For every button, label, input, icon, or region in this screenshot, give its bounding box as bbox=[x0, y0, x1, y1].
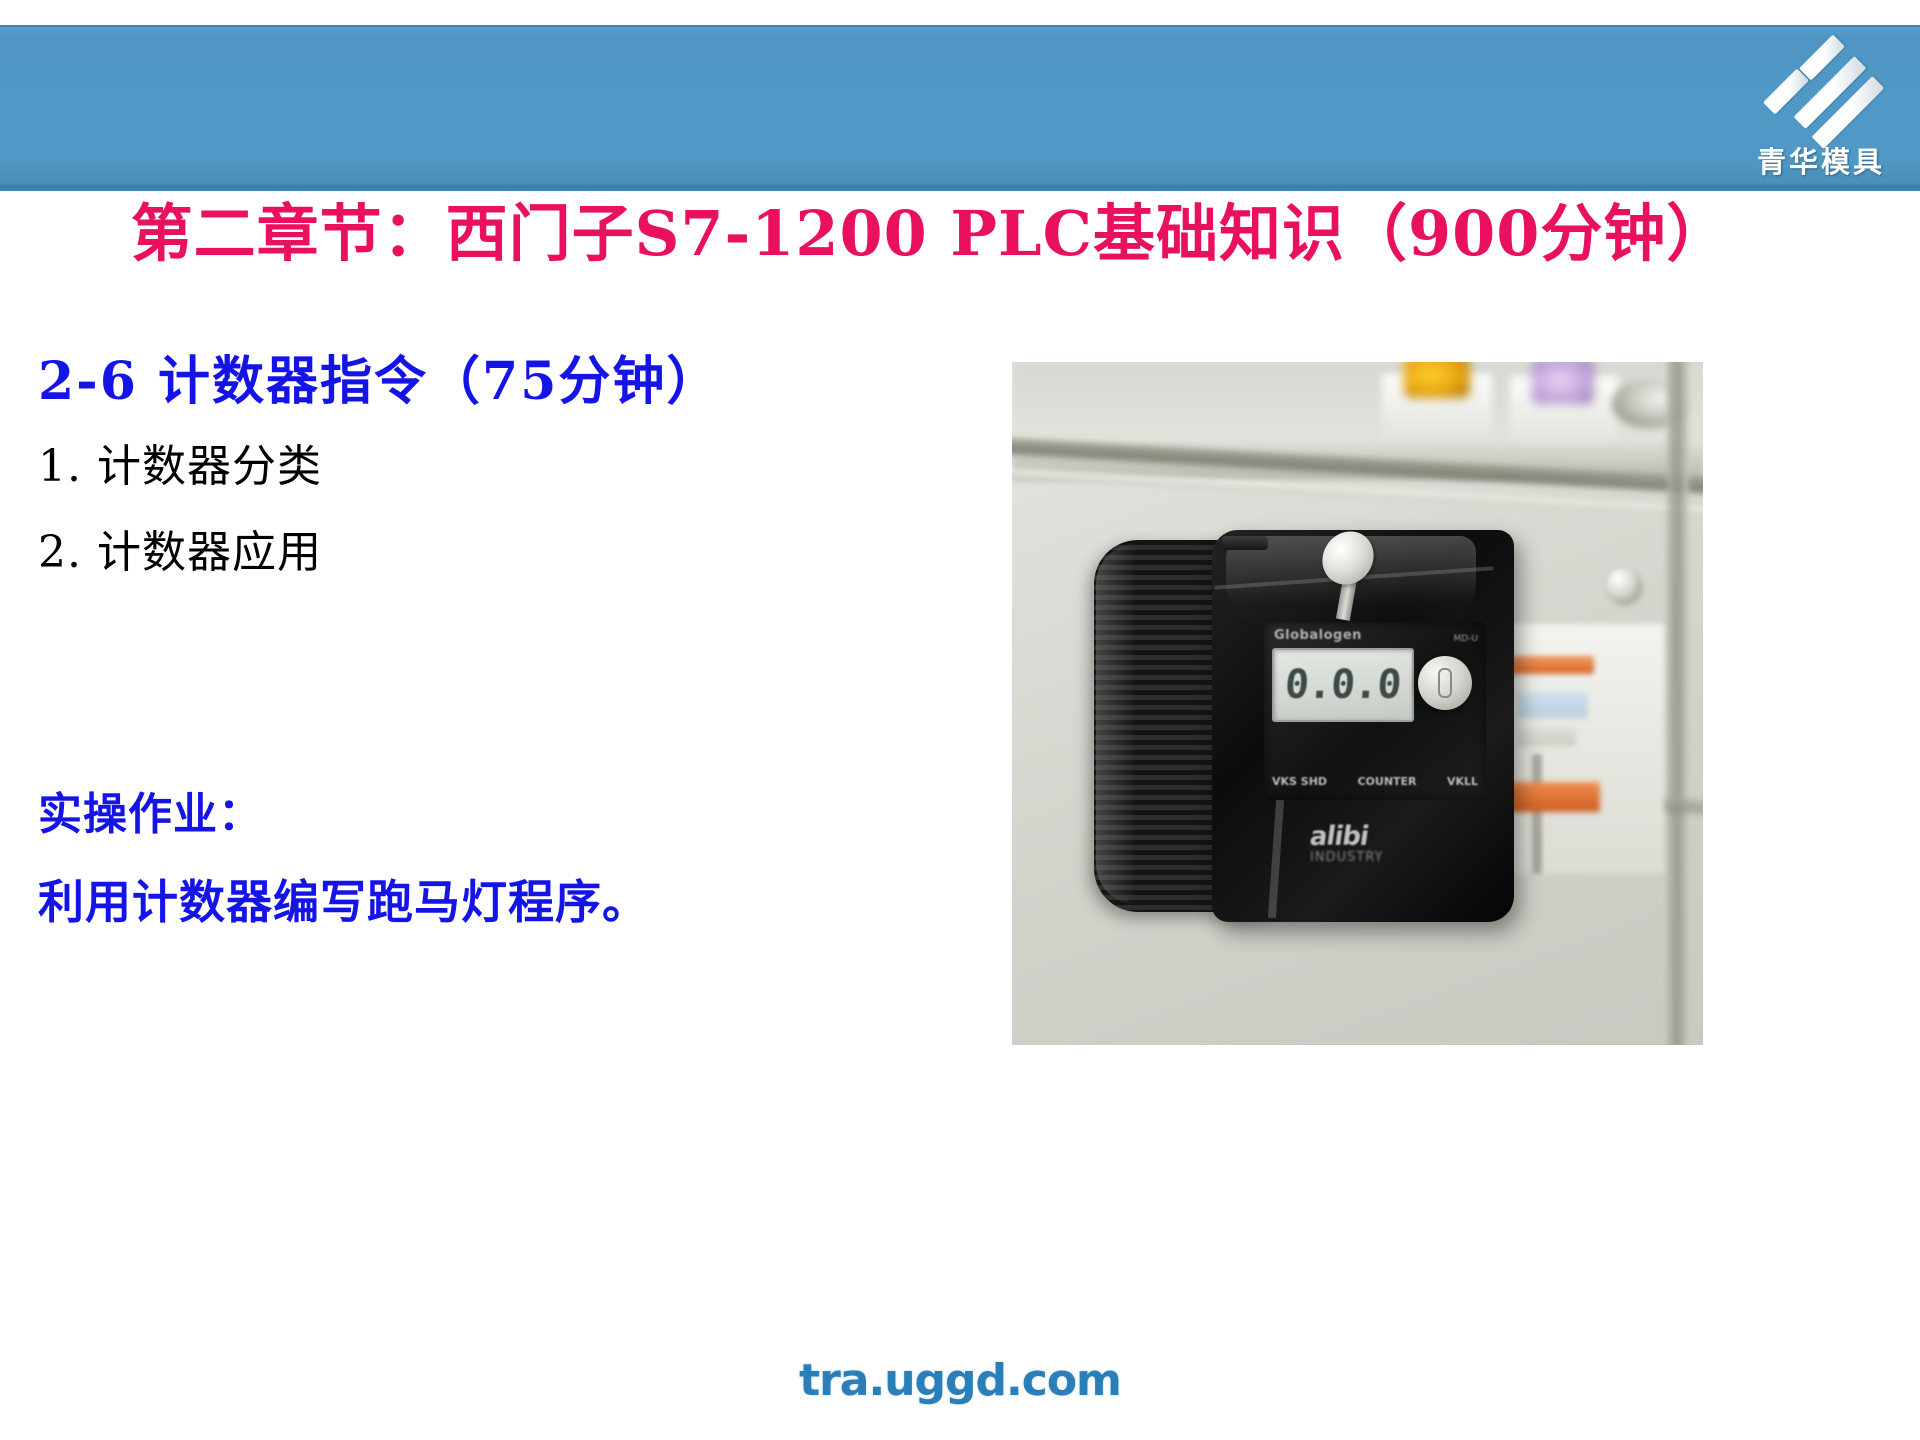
face-label-center: COUNTER bbox=[1357, 775, 1416, 788]
task-body: 利用计数器编写跑马灯程序。 bbox=[38, 872, 978, 932]
device-shell-highlight bbox=[1096, 544, 1136, 904]
content-column-left: 2-6 计数器指令（75分钟） 1. 计数器分类 2. 计数器应用 实操作业： … bbox=[38, 350, 978, 932]
company-logo: 青华模具 bbox=[1732, 27, 1910, 188]
device-model-label: MD-U bbox=[1453, 634, 1478, 644]
photo-inner: Globalogen MD-U 0.0.0 VKS SHD COUNTER VK… bbox=[1012, 362, 1703, 1045]
footer-watermark-text: tra.uggd.com bbox=[799, 1355, 1121, 1406]
list-item: 2. 计数器应用 bbox=[38, 524, 978, 582]
header-band bbox=[0, 25, 1920, 188]
page-title: 第二章节：西门子S7-1200 PLC基础知识（900分钟） bbox=[0, 196, 1860, 272]
footer: tra.uggd.com bbox=[0, 1355, 1920, 1406]
device-top-tab bbox=[1222, 536, 1268, 550]
lcd-value: 0.0.0 bbox=[1284, 662, 1403, 708]
task-block: 实操作业： 利用计数器编写跑马灯程序。 bbox=[38, 786, 978, 932]
logo-company-name: 青华模具 bbox=[1732, 139, 1910, 181]
face-label-right: VKLL bbox=[1447, 775, 1478, 788]
breaker-lever-upper bbox=[1510, 656, 1594, 674]
counter-device-photo: Globalogen MD-U 0.0.0 VKS SHD COUNTER VK… bbox=[1012, 362, 1703, 1045]
cabinet-right-edge bbox=[1667, 362, 1689, 1045]
device-face-plate: Globalogen MD-U 0.0.0 VKS SHD COUNTER VK… bbox=[1264, 622, 1486, 800]
section-heading: 2-6 计数器指令（75分钟） bbox=[38, 350, 978, 414]
breaker-label-slot-2 bbox=[1518, 726, 1576, 746]
slide-root: 青华模具 第二章节：西门子S7-1200 PLC基础知识（900分钟） 2-6 … bbox=[0, 0, 1920, 1440]
power-symbol-icon bbox=[1438, 668, 1452, 698]
indicator-lamp-purple bbox=[1532, 362, 1594, 404]
breaker-seam bbox=[1532, 754, 1542, 874]
topic-list: 1. 计数器分类 2. 计数器应用 bbox=[38, 438, 978, 582]
task-heading: 实操作业： bbox=[38, 786, 978, 844]
device-logo-label: alibi bbox=[1308, 822, 1370, 852]
device-logo-sublabel: INDUSTRY bbox=[1310, 850, 1383, 865]
list-item: 1. 计数器分类 bbox=[38, 438, 978, 496]
digital-counter-device: Globalogen MD-U 0.0.0 VKS SHD COUNTER VK… bbox=[1094, 530, 1514, 930]
panel-screw bbox=[1606, 568, 1640, 602]
logo-mark-icon bbox=[1746, 35, 1896, 143]
lcd-display: 0.0.0 bbox=[1272, 648, 1414, 722]
breaker-label-slot-1 bbox=[1518, 692, 1588, 718]
device-brand-label: Globalogen bbox=[1274, 628, 1362, 643]
device-face-labels: VKS SHD COUNTER VKLL bbox=[1272, 775, 1478, 788]
indicator-lamp-yellow bbox=[1404, 362, 1470, 398]
device-reset-knob bbox=[1418, 656, 1472, 710]
face-label-left: VKS SHD bbox=[1272, 775, 1327, 788]
breaker-lever-lower bbox=[1504, 782, 1600, 812]
